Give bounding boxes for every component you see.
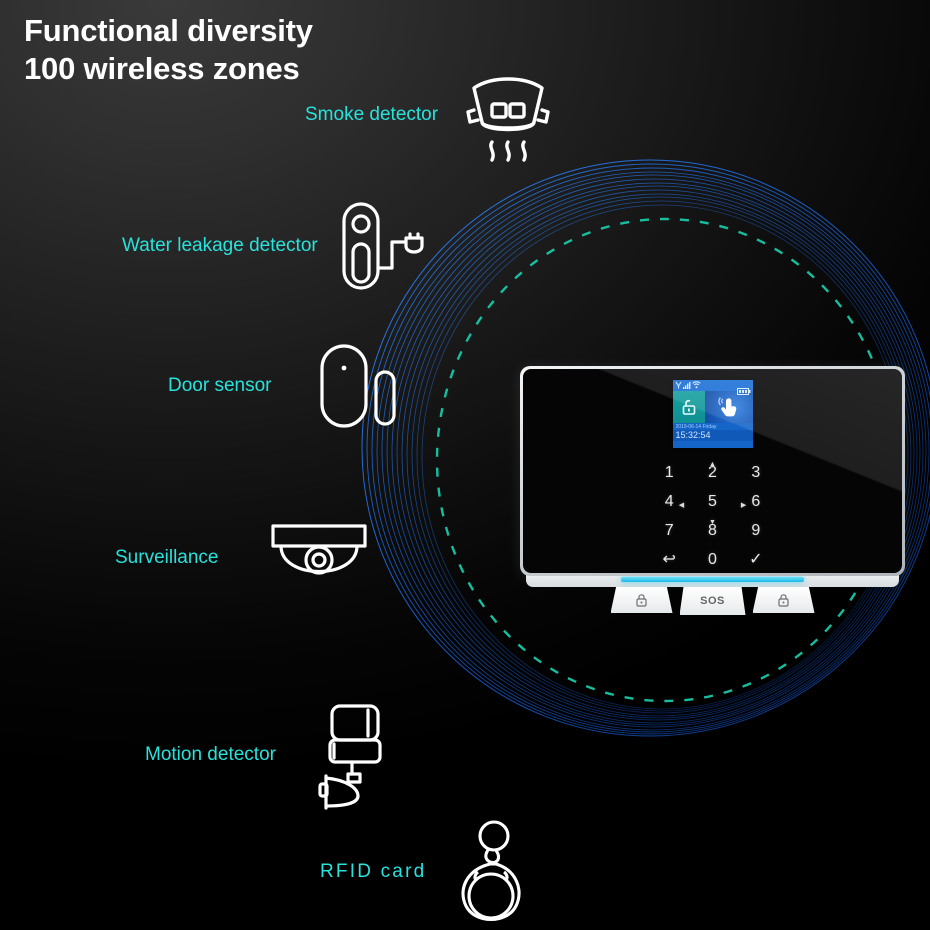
arrow-left-icon: ◀ — [679, 498, 684, 514]
sensor-label-motion-detector: Motion detector — [145, 744, 276, 766]
panel-body: 2019-06-14 Friday 15:32:54 1 ▲2 3 4◀ 5 ▶… — [520, 366, 905, 576]
keypad[interactable]: 1 ▲2 3 4◀ 5 ▶6 7 ▼8 9 ↩ 0 ✓ — [648, 465, 778, 568]
keypad-key-0[interactable]: 0 — [695, 552, 729, 568]
key-label: 7 — [665, 522, 674, 539]
keypad-key-7[interactable]: 7 — [652, 523, 686, 539]
sensor-label-smoke-detector: Smoke detector — [305, 104, 438, 126]
heading-line-1: Functional diversity — [24, 13, 313, 48]
arm-button[interactable] — [611, 587, 673, 613]
sensor-motion-detector[interactable]: Motion detector — [145, 700, 392, 810]
keypad-key-3[interactable]: 3 — [739, 465, 773, 481]
antenna-icon — [675, 381, 682, 389]
door-sensor-icon — [316, 340, 406, 432]
lcd-screen: 2019-06-14 Friday 15:32:54 — [673, 380, 753, 448]
unlock-padlock-icon — [680, 398, 698, 416]
key-label: ✓ — [749, 551, 762, 568]
lcd-status-left — [675, 381, 701, 389]
key-label: 4 — [665, 493, 674, 510]
led-strip — [621, 577, 804, 582]
keypad-key-8[interactable]: ▼8 — [695, 523, 729, 539]
sensor-smoke-detector[interactable]: Smoke detector — [305, 60, 560, 170]
key-label: 5 — [708, 493, 717, 510]
arrow-down-icon: ▼ — [709, 515, 716, 531]
arrow-right-icon: ▶ — [741, 498, 746, 514]
lock-icon — [778, 594, 789, 607]
water-leakage-detector-icon — [336, 196, 436, 296]
sensor-label-door-sensor: Door sensor — [168, 375, 272, 397]
sensor-label-rfid-card: RFID card — [320, 861, 426, 883]
touch-hand-icon — [718, 397, 740, 417]
alarm-control-panel[interactable]: 2019-06-14 Friday 15:32:54 1 ▲2 3 4◀ 5 ▶… — [520, 366, 905, 611]
keypad-key-4[interactable]: 4◀ — [652, 494, 686, 510]
rfid-keyfob-icon — [448, 818, 532, 926]
promo-graphic: Functional diversity 100 wireless zones — [0, 0, 930, 930]
sos-label: SOS — [700, 595, 725, 607]
panel-glass: 2019-06-14 Friday 15:32:54 1 ▲2 3 4◀ 5 ▶… — [523, 369, 902, 573]
key-label: ↩ — [662, 551, 675, 568]
lcd-status-right — [737, 382, 751, 400]
smoke-detector-icon — [456, 60, 560, 170]
panel-action-buttons[interactable]: SOS — [611, 587, 815, 615]
lock-icon — [636, 594, 647, 607]
lcd-status-bar — [673, 380, 753, 391]
sensor-door-sensor[interactable]: Door sensor — [168, 340, 406, 432]
sensor-label-surveillance: Surveillance — [115, 547, 219, 569]
signal-bars-icon — [683, 381, 691, 389]
surveillance-camera-icon — [267, 518, 371, 598]
keypad-key-6[interactable]: ▶6 — [739, 494, 773, 510]
lcd-date: 2019-06-14 Friday — [673, 423, 753, 430]
arrow-up-icon: ▲ — [709, 457, 716, 473]
key-label: 1 — [665, 464, 674, 481]
disarm-button[interactable] — [753, 587, 815, 613]
sensor-water-leakage-detector[interactable]: Water leakage detector — [122, 196, 436, 296]
key-label: 3 — [751, 464, 760, 481]
lcd-time: 15:32:54 — [673, 430, 753, 441]
keypad-key-5[interactable]: 5 — [695, 494, 729, 510]
sos-button[interactable]: SOS — [680, 587, 746, 615]
keypad-key-1[interactable]: 1 — [652, 465, 686, 481]
sensor-rfid-card[interactable]: RFID card — [320, 818, 532, 926]
wifi-icon — [692, 381, 701, 389]
sensor-surveillance[interactable]: Surveillance — [115, 518, 371, 598]
battery-icon — [737, 388, 751, 395]
keypad-key-2[interactable]: ▲2 — [695, 465, 729, 481]
key-label: 0 — [708, 551, 717, 568]
keypad-key-confirm[interactable]: ✓ — [739, 552, 773, 568]
keypad-key-9[interactable]: 9 — [739, 523, 773, 539]
key-label: 9 — [751, 522, 760, 539]
sensor-label-water-leakage-detector: Water leakage detector — [122, 235, 318, 257]
lcd-tile-disarm[interactable] — [673, 391, 705, 423]
keypad-key-back[interactable]: ↩ — [652, 552, 686, 568]
motion-detector-icon — [308, 700, 392, 810]
key-label: 6 — [751, 493, 760, 510]
